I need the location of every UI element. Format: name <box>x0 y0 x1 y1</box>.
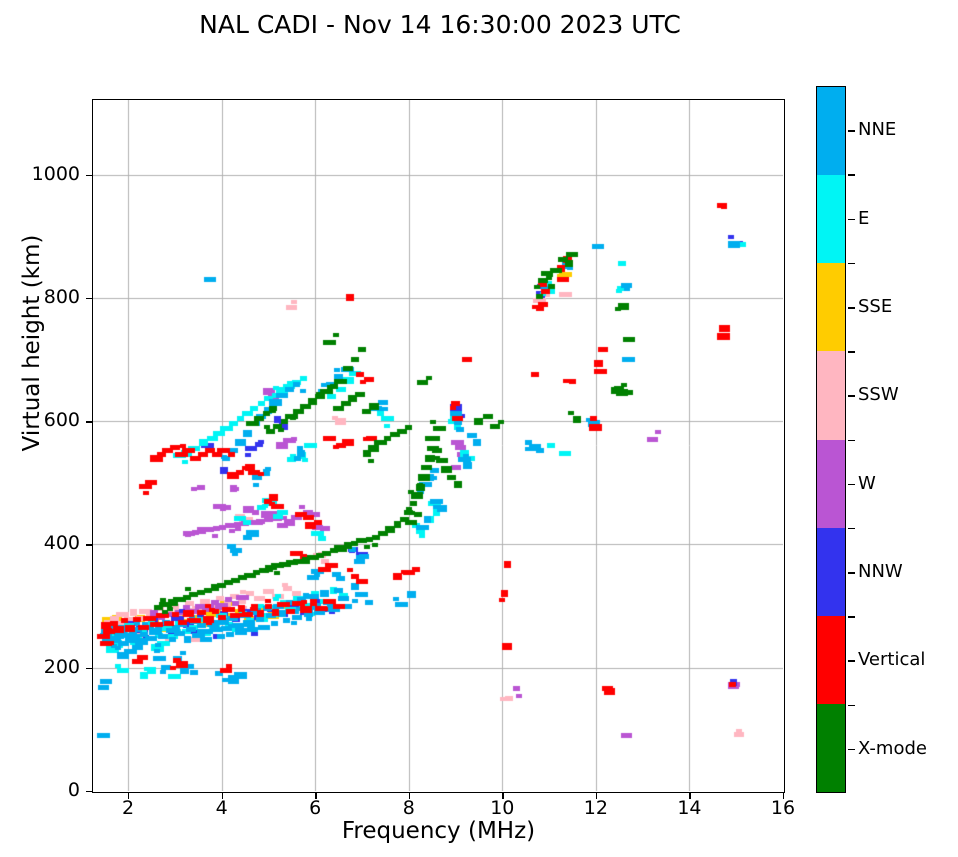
colorbar-tick-x-mode <box>848 749 855 751</box>
colorbar-boundary-tick <box>848 616 855 618</box>
y-tick-mark-600 <box>86 421 92 422</box>
colorbar-tick-nnw <box>848 572 855 574</box>
colorbar-boundary-tick <box>848 263 855 265</box>
y-tick-mark-1000 <box>86 175 92 176</box>
colorbar-band-vertical <box>817 616 845 704</box>
colorbar-band-nnw <box>817 528 845 616</box>
colorbar-label-sse: SSE <box>858 296 892 317</box>
colorbar-boundary-tick <box>848 705 855 707</box>
colorbar-label-vertical: Vertical <box>858 649 925 670</box>
y-tick-label-200: 200 <box>10 656 80 678</box>
colorbar-band-nne <box>817 87 845 175</box>
page-title: NAL CADI - Nov 14 16:30:00 2023 UTC <box>0 10 880 39</box>
colorbar-label-w: W <box>858 473 876 494</box>
x-tick-label-6: 6 <box>285 797 345 819</box>
y-tick-label-0: 0 <box>10 779 80 801</box>
colorbar-tick-nne <box>848 130 855 132</box>
x-axis-label: Frequency (MHz) <box>92 818 785 844</box>
y-tick-label-400: 400 <box>10 532 80 554</box>
colorbar-label-e: E <box>858 208 869 229</box>
colorbar-band-sse <box>817 263 845 351</box>
colorbar-band-x-mode <box>817 704 845 792</box>
colorbar-tick-w <box>848 484 855 486</box>
y-axis-label: Virtual height (km) <box>19 23 45 663</box>
colorbar-tick-ssw <box>848 395 855 397</box>
colorbar-band-e <box>817 175 845 263</box>
colorbar-label-nne: NNE <box>858 119 896 140</box>
x-tick-mark-8 <box>409 793 410 799</box>
y-tick-mark-0 <box>86 791 92 792</box>
y-tick-label-1000: 1000 <box>10 163 80 185</box>
colorbar <box>816 86 846 793</box>
x-tick-label-2: 2 <box>98 797 158 819</box>
y-tick-label-800: 800 <box>10 286 80 308</box>
y-tick-mark-200 <box>86 668 92 669</box>
y-tick-mark-800 <box>86 298 92 299</box>
x-tick-mark-4 <box>222 793 223 799</box>
x-tick-label-14: 14 <box>659 797 719 819</box>
colorbar-boundary-tick <box>848 351 855 353</box>
colorbar-label-nnw: NNW <box>858 561 903 582</box>
x-tick-label-12: 12 <box>566 797 626 819</box>
colorbar-band-w <box>817 440 845 528</box>
colorbar-boundary-tick <box>848 174 855 176</box>
x-tick-label-16: 16 <box>753 797 813 819</box>
x-tick-mark-6 <box>315 793 316 799</box>
colorbar-boundary-tick <box>848 528 855 530</box>
x-tick-mark-2 <box>128 793 129 799</box>
colorbar-tick-sse <box>848 307 855 309</box>
x-tick-mark-14 <box>689 793 690 799</box>
x-tick-mark-16 <box>783 793 784 799</box>
x-tick-mark-10 <box>502 793 503 799</box>
colorbar-band-ssw <box>817 351 845 439</box>
x-tick-label-4: 4 <box>192 797 252 819</box>
x-tick-label-8: 8 <box>379 797 439 819</box>
colorbar-label-ssw: SSW <box>858 384 899 405</box>
colorbar-tick-e <box>848 219 855 221</box>
x-tick-mark-12 <box>596 793 597 799</box>
scatter-canvas <box>93 100 783 791</box>
colorbar-tick-vertical <box>848 660 855 662</box>
y-tick-mark-400 <box>86 544 92 545</box>
x-tick-label-10: 10 <box>472 797 532 819</box>
colorbar-label-x-mode: X-mode <box>858 738 927 759</box>
y-tick-label-600: 600 <box>10 409 80 431</box>
plot-area <box>92 99 785 793</box>
ionogram-figure: NAL CADI - Nov 14 16:30:00 2023 UTC Virt… <box>0 0 958 857</box>
colorbar-boundary-tick <box>848 440 855 442</box>
